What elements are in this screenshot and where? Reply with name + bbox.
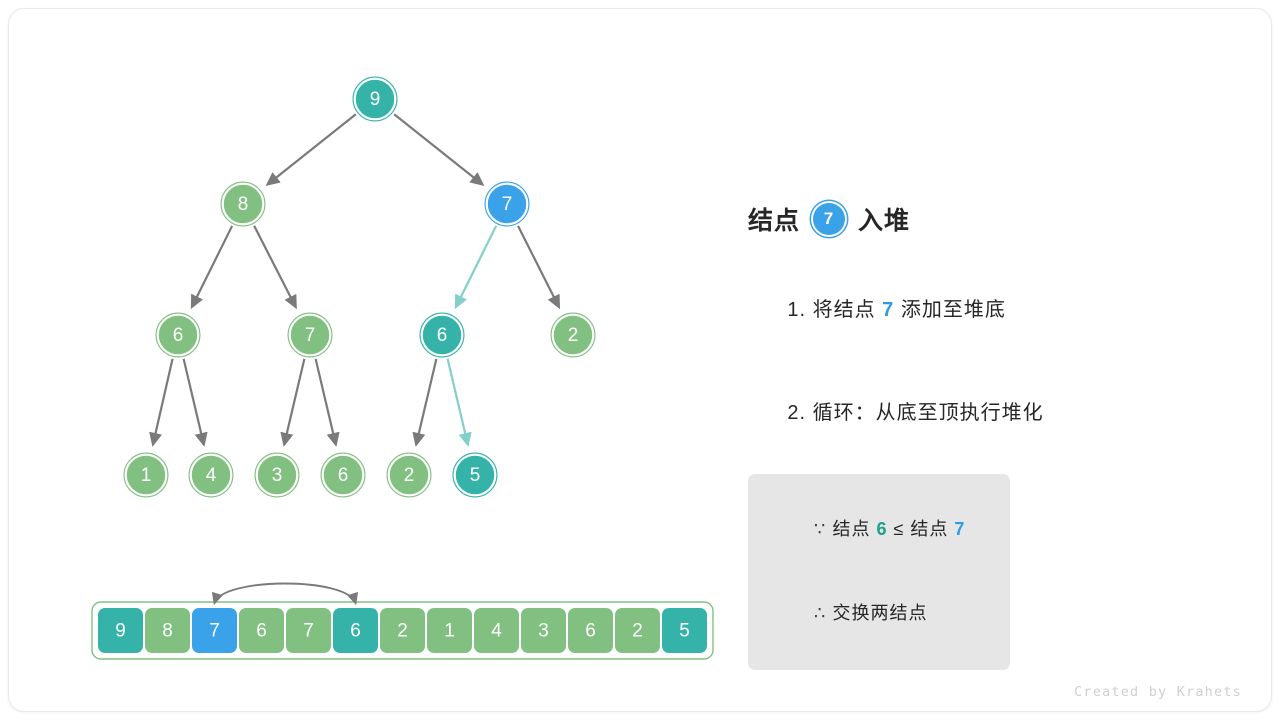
tree-node-2[interactable]: 2 [551,313,595,357]
tree-edge [316,359,336,444]
step-1-pre: 将结点 [806,299,882,321]
array-cell[interactable]: 9 [98,608,143,653]
array-cell[interactable]: 1 [427,608,472,653]
array-cell-label: 8 [162,621,173,642]
step-1-number: 1. [787,299,806,321]
array-cell[interactable]: 4 [474,608,519,653]
tree-node-6[interactable]: 6 [156,313,200,357]
array-cell-label: 5 [679,621,690,642]
tree-edge [268,114,356,184]
array-cell-label: 2 [397,621,408,642]
because-symbol: ∵ [814,519,826,539]
array-cell-label: 6 [585,621,596,642]
tree-node-7[interactable]: 7 [485,182,529,226]
node-label: 9 [370,89,381,110]
tree-node-4[interactable]: 4 [189,453,233,497]
array-cell[interactable]: 2 [380,608,425,653]
node-label: 3 [272,465,283,486]
node-label: 7 [305,325,316,346]
array-cell-label: 1 [444,621,455,642]
tree-edge [254,226,296,307]
tree-node-7[interactable]: 7 [288,313,332,357]
tree-node-8[interactable]: 8 [221,182,265,226]
node-label: 5 [470,465,481,486]
tree-node-6[interactable]: 6 [420,313,464,357]
array-cell-label: 2 [632,621,643,642]
credit-text: Created by Krahets [1074,684,1242,700]
tree-edges [153,114,559,444]
node-label: 6 [437,325,448,346]
tree-edge [416,359,436,444]
explanation-panel: 结点 7 入堆 1. 将结点 7 添加至堆底 2. 循环：从底至顶执行堆化 ∵ … [748,196,1218,670]
tree-edge [184,359,204,444]
array-cell[interactable]: 6 [568,608,613,653]
tree-node-3[interactable]: 3 [255,453,299,497]
step-1-post: 添加至堆底 [894,299,1006,321]
node-label: 2 [404,465,415,486]
array-swap-arc [215,584,356,604]
infobox-line-2: ∴ 交换两结点 [766,572,992,656]
array-cell-label: 9 [115,621,126,642]
node-label: 8 [238,194,249,215]
infobox-line-1-b: 结点 [910,519,954,539]
tree-edge [153,359,173,444]
array-cell-label: 6 [256,621,267,642]
node-label: 1 [141,465,152,486]
array-cell-label: 6 [350,621,361,642]
array-cell-label: 4 [491,621,502,642]
tree-node-1[interactable]: 1 [124,453,168,497]
node-label: 7 [502,194,513,215]
infobox-line-1-a: 结点 [826,519,876,539]
tree-edge [192,226,232,307]
array-cell-label: 7 [303,621,314,642]
array-cell[interactable]: 6 [239,608,284,653]
array-cell-label: 7 [209,621,220,642]
tree-node-2[interactable]: 2 [387,453,431,497]
step-1: 1. 将结点 7 添加至堆底 [748,270,1218,345]
step-2-pre: 循环：从底至顶执行堆化 [806,402,1044,424]
array-cell[interactable]: 2 [615,608,660,653]
tree-edge [284,359,304,444]
array-cell[interactable]: 5 [662,608,707,653]
heap-diagram: 9876762143625 9876762143625 [0,0,760,704]
screenshot-root: 9876762143625 9876762143625 结点 7 入堆 1. 将… [0,0,1280,720]
title-suffix: 入堆 [858,201,910,237]
panel-title: 结点 7 入堆 [748,196,1218,242]
step-1-value: 7 [882,299,894,321]
tree-edge [518,226,559,307]
node-label: 6 [338,465,349,486]
tree-node-5[interactable]: 5 [453,453,497,497]
infobox-line-2-text: 交换两结点 [826,603,927,623]
tree-edge [456,226,496,307]
array-visualization: 9876762143625 [92,584,713,660]
infobox-line-1: ∵ 结点 6 ≤ 结点 7 [766,488,992,572]
array-cell-label: 3 [538,621,549,642]
tree-edge [394,114,482,184]
array-cell[interactable]: 6 [333,608,378,653]
infobox-operator: ≤ [888,519,911,539]
title-node-badge: 7 [813,203,845,235]
array-cell[interactable]: 3 [521,608,566,653]
title-prefix: 结点 [748,201,800,237]
array-cell[interactable]: 7 [286,608,331,653]
tree-node-9[interactable]: 9 [353,77,397,121]
tree-edge [448,359,468,444]
comparison-infobox: ∵ 结点 6 ≤ 结点 7 ∴ 交换两结点 [748,474,1010,670]
step-2: 2. 循环：从底至顶执行堆化 [748,373,1218,448]
tree-node-6[interactable]: 6 [321,453,365,497]
tree-nodes: 9876762143625 [124,77,595,497]
infobox-value-1: 6 [876,519,887,539]
step-2-number: 2. [787,402,806,424]
array-cell[interactable]: 7 [192,608,237,653]
array-cell[interactable]: 8 [145,608,190,653]
node-label: 6 [173,325,184,346]
node-label: 2 [568,325,579,346]
infobox-value-2: 7 [954,519,965,539]
therefore-symbol: ∴ [814,603,826,623]
node-label: 4 [206,465,217,486]
